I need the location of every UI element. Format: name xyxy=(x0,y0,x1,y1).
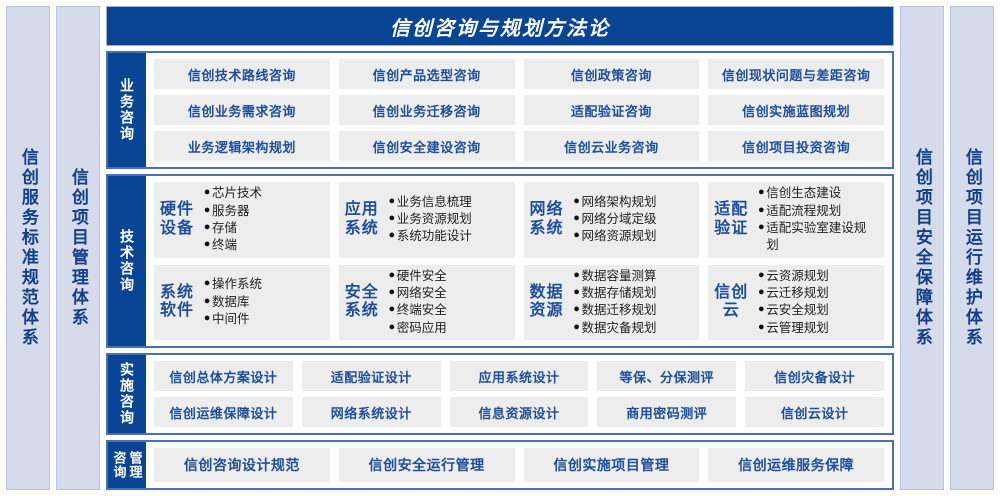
tech-card-bullet-text: 云安全规划 xyxy=(766,302,829,319)
band-consulting-management: 咨询 管理 信创咨询设计规范 信创安全运行管理 信创实施项目管理 信创运维服务保… xyxy=(106,440,894,490)
chip-item[interactable]: 信创业务迁移咨询 xyxy=(339,95,515,125)
tech-card-bullet: ●业务信息梳理 xyxy=(387,194,509,211)
band-business-consulting-label: 业务咨询 xyxy=(108,53,146,167)
band-implementation-consulting-label: 实施咨询 xyxy=(108,355,146,433)
page-title-text: 信创咨询与规划方法论 xyxy=(390,12,610,41)
bullet-dot-icon: ● xyxy=(572,268,582,283)
bullet-dot-icon: ● xyxy=(756,302,766,317)
band-technical-consulting-body: 硬件设备●芯片技术●服务器●存储●终端应用系统●业务信息梳理●业务资源规划●系统… xyxy=(146,176,892,346)
bullet-dot-icon: ● xyxy=(572,194,582,209)
tech-card-bullet-text: 芯片技术 xyxy=(212,185,262,202)
chip-item[interactable]: 信创云业务咨询 xyxy=(524,131,700,161)
chip-item[interactable]: 适配验证设计 xyxy=(302,361,441,391)
tech-card[interactable]: 适配验证●信创生态建设●适配流程规划●适配实验室建设规划 xyxy=(708,182,884,258)
band-business-consulting-body: 信创技术路线咨询 信创产品选型咨询 信创政策咨询 信创现状问题与差距咨询 信创业… xyxy=(146,53,892,167)
bullet-dot-icon: ● xyxy=(756,220,766,235)
tech-card-bullet-text: 终端 xyxy=(212,237,237,254)
tech-card-bullet: ●云管理规划 xyxy=(756,320,878,337)
chip-row: 信创总体方案设计 适配验证设计 应用系统设计 等保、分保测评 信创灾备设计 xyxy=(154,361,884,391)
pillar-left-service-standard-label: 信创服务标准规范体系 xyxy=(19,148,37,348)
tech-card-list: ●网络架构规划●网络分域定级●网络资源规划 xyxy=(572,194,694,246)
tech-card-bullet: ●服务器 xyxy=(202,203,324,220)
tech-card-bullet-text: 业务资源规划 xyxy=(397,211,472,228)
band-consulting-management-label: 咨询 管理 xyxy=(108,442,146,488)
tech-card-bullet-text: 网络架构规划 xyxy=(582,194,657,211)
tech-card-bullet-text: 系统功能设计 xyxy=(397,228,472,245)
tech-card-bullet-text: 云资源规划 xyxy=(766,268,829,285)
tech-card[interactable]: 安全系统●硬件安全●网络安全●终端安全●密码应用 xyxy=(339,265,515,341)
tech-card-bullet-text: 硬件安全 xyxy=(397,268,447,285)
chip-item[interactable]: 信息资源设计 xyxy=(450,397,589,427)
bullet-dot-icon: ● xyxy=(202,294,212,309)
tech-card-bullet-text: 适配实验室建设规划 xyxy=(766,220,878,255)
pillar-right-operations-maintenance: 信创项目运行维护体系 xyxy=(950,6,994,490)
chip-item[interactable]: 信创灾备设计 xyxy=(745,361,884,391)
band-consulting-management-label-right: 管理 xyxy=(129,451,142,479)
pillar-left-service-standard: 信创服务标准规范体系 xyxy=(6,6,50,490)
page-title: 信创咨询与规划方法论 xyxy=(106,6,894,46)
band-implementation-consulting-label-text: 实施咨询 xyxy=(120,362,134,426)
tech-card-bullet: ●芯片技术 xyxy=(202,185,324,202)
tech-card-bullet-text: 存储 xyxy=(212,220,237,237)
band-business-consulting-label-text: 业务咨询 xyxy=(120,78,134,142)
band-technical-consulting-label-text: 技术咨询 xyxy=(120,229,134,293)
tech-card-bullet-text: 数据迁移规划 xyxy=(582,302,657,319)
tech-card-list: ●操作系统●数据库●中间件 xyxy=(202,276,324,328)
tech-card-bullet: ●中间件 xyxy=(202,311,324,328)
tech-card-list: ●硬件安全●网络安全●终端安全●密码应用 xyxy=(387,268,509,337)
band-consulting-management-label-left: 咨询 xyxy=(113,451,126,479)
chip-item[interactable]: 信创技术路线咨询 xyxy=(154,59,330,89)
chip-item[interactable]: 信创运维服务保障 xyxy=(708,448,884,482)
bullet-dot-icon: ● xyxy=(756,320,766,335)
bullet-dot-icon: ● xyxy=(572,285,582,300)
band-implementation-consulting-body: 信创总体方案设计 适配验证设计 应用系统设计 等保、分保测评 信创灾备设计 信创… xyxy=(146,355,892,433)
bullet-dot-icon: ● xyxy=(202,311,212,326)
chip-row: 信创技术路线咨询 信创产品选型咨询 信创政策咨询 信创现状问题与差距咨询 xyxy=(154,59,884,89)
tech-card-bullet-text: 数据容量测算 xyxy=(582,268,657,285)
bullet-dot-icon: ● xyxy=(572,211,582,226)
pillar-left-project-management-label: 信创项目管理体系 xyxy=(69,168,87,328)
chip-row: 信创咨询设计规范 信创安全运行管理 信创实施项目管理 信创运维服务保障 xyxy=(154,448,884,482)
tech-card-bullet: ●数据存储规划 xyxy=(572,285,694,302)
bullet-dot-icon: ● xyxy=(387,320,397,335)
card-row: 系统软件●操作系统●数据库●中间件安全系统●硬件安全●网络安全●终端安全●密码应… xyxy=(154,265,884,341)
tech-card-bullet: ●操作系统 xyxy=(202,276,324,293)
tech-card-list: ●数据容量测算●数据存储规划●数据迁移规划●数据灾备规划 xyxy=(572,268,694,337)
tech-card-title: 网络系统 xyxy=(530,201,566,238)
bullet-dot-icon: ● xyxy=(756,185,766,200)
tech-card-bullet: ●网络分域定级 xyxy=(572,211,694,228)
bullet-dot-icon: ● xyxy=(756,203,766,218)
band-consulting-management-body: 信创咨询设计规范 信创安全运行管理 信创实施项目管理 信创运维服务保障 xyxy=(146,442,892,488)
pillar-left-project-management: 信创项目管理体系 xyxy=(56,6,100,490)
bullet-dot-icon: ● xyxy=(756,285,766,300)
chip-item[interactable]: 信创总体方案设计 xyxy=(154,361,293,391)
tech-card-title: 数据资源 xyxy=(530,284,566,321)
tech-card-bullet-text: 云管理规划 xyxy=(766,320,829,337)
tech-card-title: 信创云 xyxy=(714,284,750,321)
band-implementation-consulting: 实施咨询 信创总体方案设计 适配验证设计 应用系统设计 等保、分保测评 信创灾备… xyxy=(106,353,894,435)
bullet-dot-icon: ● xyxy=(572,320,582,335)
tech-card[interactable]: 数据资源●数据容量测算●数据存储规划●数据迁移规划●数据灾备规划 xyxy=(524,265,700,341)
bullet-dot-icon: ● xyxy=(387,228,397,243)
tech-card-bullet-text: 数据存储规划 xyxy=(582,285,657,302)
tech-card-bullet: ●终端 xyxy=(202,237,324,254)
tech-card-list: ●云资源规划●云迁移规划●云安全规划●云管理规划 xyxy=(756,268,878,337)
tech-card-bullet-text: 数据灾备规划 xyxy=(582,320,657,337)
bullet-dot-icon: ● xyxy=(202,220,212,235)
tech-card-bullet-text: 网络分域定级 xyxy=(582,211,657,228)
bullet-dot-icon: ● xyxy=(572,228,582,243)
chip-row: 信创业务需求咨询 信创业务迁移咨询 适配验证咨询 信创实施蓝图规划 xyxy=(154,95,884,125)
tech-card[interactable]: 信创云●云资源规划●云迁移规划●云安全规划●云管理规划 xyxy=(708,265,884,341)
tech-card-bullet-text: 中间件 xyxy=(212,311,250,328)
pillar-right-security-assurance-label: 信创项目安全保障体系 xyxy=(913,148,931,348)
chip-item[interactable]: 信创安全建设咨询 xyxy=(339,131,515,161)
tech-card-bullet: ●云安全规划 xyxy=(756,302,878,319)
tech-card-bullet-text: 云迁移规划 xyxy=(766,285,829,302)
chip-item[interactable]: 网络系统设计 xyxy=(302,397,441,427)
tech-card-title: 系统软件 xyxy=(160,284,196,321)
tech-card-bullet: ●数据灾备规划 xyxy=(572,320,694,337)
band-technical-consulting: 技术咨询 硬件设备●芯片技术●服务器●存储●终端应用系统●业务信息梳理●业务资源… xyxy=(106,174,894,348)
tech-card-bullet: ●硬件安全 xyxy=(387,268,509,285)
tech-card-bullet: ●云资源规划 xyxy=(756,268,878,285)
tech-card-title: 硬件设备 xyxy=(160,201,196,238)
tech-card-bullet-text: 网络安全 xyxy=(397,285,447,302)
tech-card-bullet-text: 操作系统 xyxy=(212,276,262,293)
chip-item[interactable]: 等保、分保测评 xyxy=(597,361,736,391)
tech-card-bullet: ●密码应用 xyxy=(387,320,509,337)
tech-card[interactable]: 系统软件●操作系统●数据库●中间件 xyxy=(154,265,330,341)
tech-card-bullet-text: 适配流程规划 xyxy=(766,203,841,220)
chip-row: 信创运维保障设计 网络系统设计 信息资源设计 商用密码测评 信创云设计 xyxy=(154,397,884,427)
bullet-dot-icon: ● xyxy=(387,268,397,283)
tech-card-bullet: ●存储 xyxy=(202,220,324,237)
methodology-diagram: 信创服务标准规范体系 信创项目管理体系 信创咨询与规划方法论 业务咨询 信创技术… xyxy=(0,0,1000,496)
chip-item[interactable]: 信创咨询设计规范 xyxy=(154,448,330,482)
tech-card-list: ●信创生态建设●适配流程规划●适配实验室建设规划 xyxy=(756,185,878,254)
chip-item[interactable]: 应用系统设计 xyxy=(450,361,589,391)
tech-card-bullet: ●适配实验室建设规划 xyxy=(756,220,878,255)
tech-card-bullet: ●云迁移规划 xyxy=(756,285,878,302)
tech-card-list: ●业务信息梳理●业务资源规划●系统功能设计 xyxy=(387,194,509,246)
tech-card-bullet: ●业务资源规划 xyxy=(387,211,509,228)
chip-item[interactable]: 信创实施蓝图规划 xyxy=(708,95,884,125)
tech-card-title: 应用系统 xyxy=(345,201,381,238)
tech-card-bullet: ●数据库 xyxy=(202,294,324,311)
chip-item[interactable]: 信创产品选型咨询 xyxy=(339,59,515,89)
bullet-dot-icon: ● xyxy=(387,285,397,300)
chip-item[interactable]: 信创安全运行管理 xyxy=(339,448,515,482)
tech-card-bullet-text: 终端安全 xyxy=(397,302,447,319)
tech-card-bullet-text: 网络资源规划 xyxy=(582,228,657,245)
tech-card-bullet: ●适配流程规划 xyxy=(756,203,878,220)
chip-row: 业务逻辑架构规划 信创安全建设咨询 信创云业务咨询 信创项目投资咨询 xyxy=(154,131,884,161)
card-row: 硬件设备●芯片技术●服务器●存储●终端应用系统●业务信息梳理●业务资源规划●系统… xyxy=(154,182,884,258)
tech-card-bullet: ●网络资源规划 xyxy=(572,228,694,245)
tech-card-list: ●芯片技术●服务器●存储●终端 xyxy=(202,185,324,254)
tech-card-bullet: ●网络安全 xyxy=(387,285,509,302)
bullet-dot-icon: ● xyxy=(202,237,212,252)
bullet-dot-icon: ● xyxy=(387,211,397,226)
band-technical-consulting-label: 技术咨询 xyxy=(108,176,146,346)
tech-card-bullet: ●信创生态建设 xyxy=(756,185,878,202)
bullet-dot-icon: ● xyxy=(202,203,212,218)
bullet-dot-icon: ● xyxy=(202,185,212,200)
tech-card-bullet: ●网络架构规划 xyxy=(572,194,694,211)
tech-card-bullet-text: 信创生态建设 xyxy=(766,185,841,202)
tech-card[interactable]: 硬件设备●芯片技术●服务器●存储●终端 xyxy=(154,182,330,258)
tech-card-bullet: ●终端安全 xyxy=(387,302,509,319)
tech-card-bullet-text: 业务信息梳理 xyxy=(397,194,472,211)
chip-item[interactable]: 信创现状问题与差距咨询 xyxy=(708,59,884,89)
tech-card-bullet-text: 服务器 xyxy=(212,203,250,220)
pillar-right-operations-maintenance-label: 信创项目运行维护体系 xyxy=(963,148,981,348)
chip-item[interactable]: 信创政策咨询 xyxy=(524,59,700,89)
pillar-right-security-assurance: 信创项目安全保障体系 xyxy=(900,6,944,490)
tech-card-bullet-text: 密码应用 xyxy=(397,320,447,337)
center-stack: 信创咨询与规划方法论 业务咨询 信创技术路线咨询 信创产品选型咨询 信创政策咨询… xyxy=(106,6,894,490)
chip-item[interactable]: 信创业务需求咨询 xyxy=(154,95,330,125)
bullet-dot-icon: ● xyxy=(387,302,397,317)
band-business-consulting: 业务咨询 信创技术路线咨询 信创产品选型咨询 信创政策咨询 信创现状问题与差距咨… xyxy=(106,51,894,169)
tech-card-bullet: ●数据容量测算 xyxy=(572,268,694,285)
chip-item[interactable]: 商用密码测评 xyxy=(597,397,736,427)
tech-card-bullet-text: 数据库 xyxy=(212,294,250,311)
bullet-dot-icon: ● xyxy=(387,194,397,209)
bullet-dot-icon: ● xyxy=(756,268,766,283)
tech-card[interactable]: 网络系统●网络架构规划●网络分域定级●网络资源规划 xyxy=(524,182,700,258)
bullet-dot-icon: ● xyxy=(572,302,582,317)
chip-item[interactable]: 适配验证咨询 xyxy=(524,95,700,125)
tech-card[interactable]: 应用系统●业务信息梳理●业务资源规划●系统功能设计 xyxy=(339,182,515,258)
tech-card-title: 适配验证 xyxy=(714,201,750,238)
chip-item[interactable]: 信创云设计 xyxy=(745,397,884,427)
tech-card-bullet: ●数据迁移规划 xyxy=(572,302,694,319)
tech-card-title: 安全系统 xyxy=(345,284,381,321)
chip-item[interactable]: 信创运维保障设计 xyxy=(154,397,293,427)
chip-item[interactable]: 信创实施项目管理 xyxy=(524,448,700,482)
tech-card-bullet: ●系统功能设计 xyxy=(387,228,509,245)
chip-item[interactable]: 业务逻辑架构规划 xyxy=(154,131,330,161)
chip-item[interactable]: 信创项目投资咨询 xyxy=(708,131,884,161)
bullet-dot-icon: ● xyxy=(202,276,212,291)
